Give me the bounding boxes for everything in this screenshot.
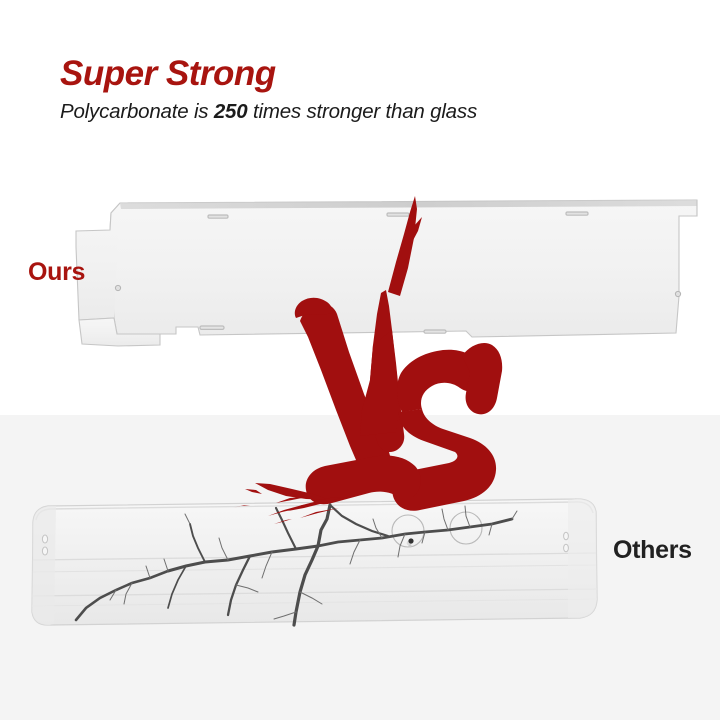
page-title: Super Strong <box>60 54 276 94</box>
subtitle-prefix: Polycarbonate is <box>60 100 214 123</box>
subtitle-emphasis: 250 <box>214 100 248 123</box>
subtitle-suffix: times stronger than glass <box>247 100 477 123</box>
label-ours: Ours <box>28 258 85 287</box>
infographic-canvas: Super Strong Polycarbonate is 250 times … <box>0 0 720 720</box>
background-band-bottom <box>0 415 720 720</box>
page-subtitle: Polycarbonate is 250 times stronger than… <box>60 100 477 124</box>
label-others: Others <box>613 536 692 565</box>
